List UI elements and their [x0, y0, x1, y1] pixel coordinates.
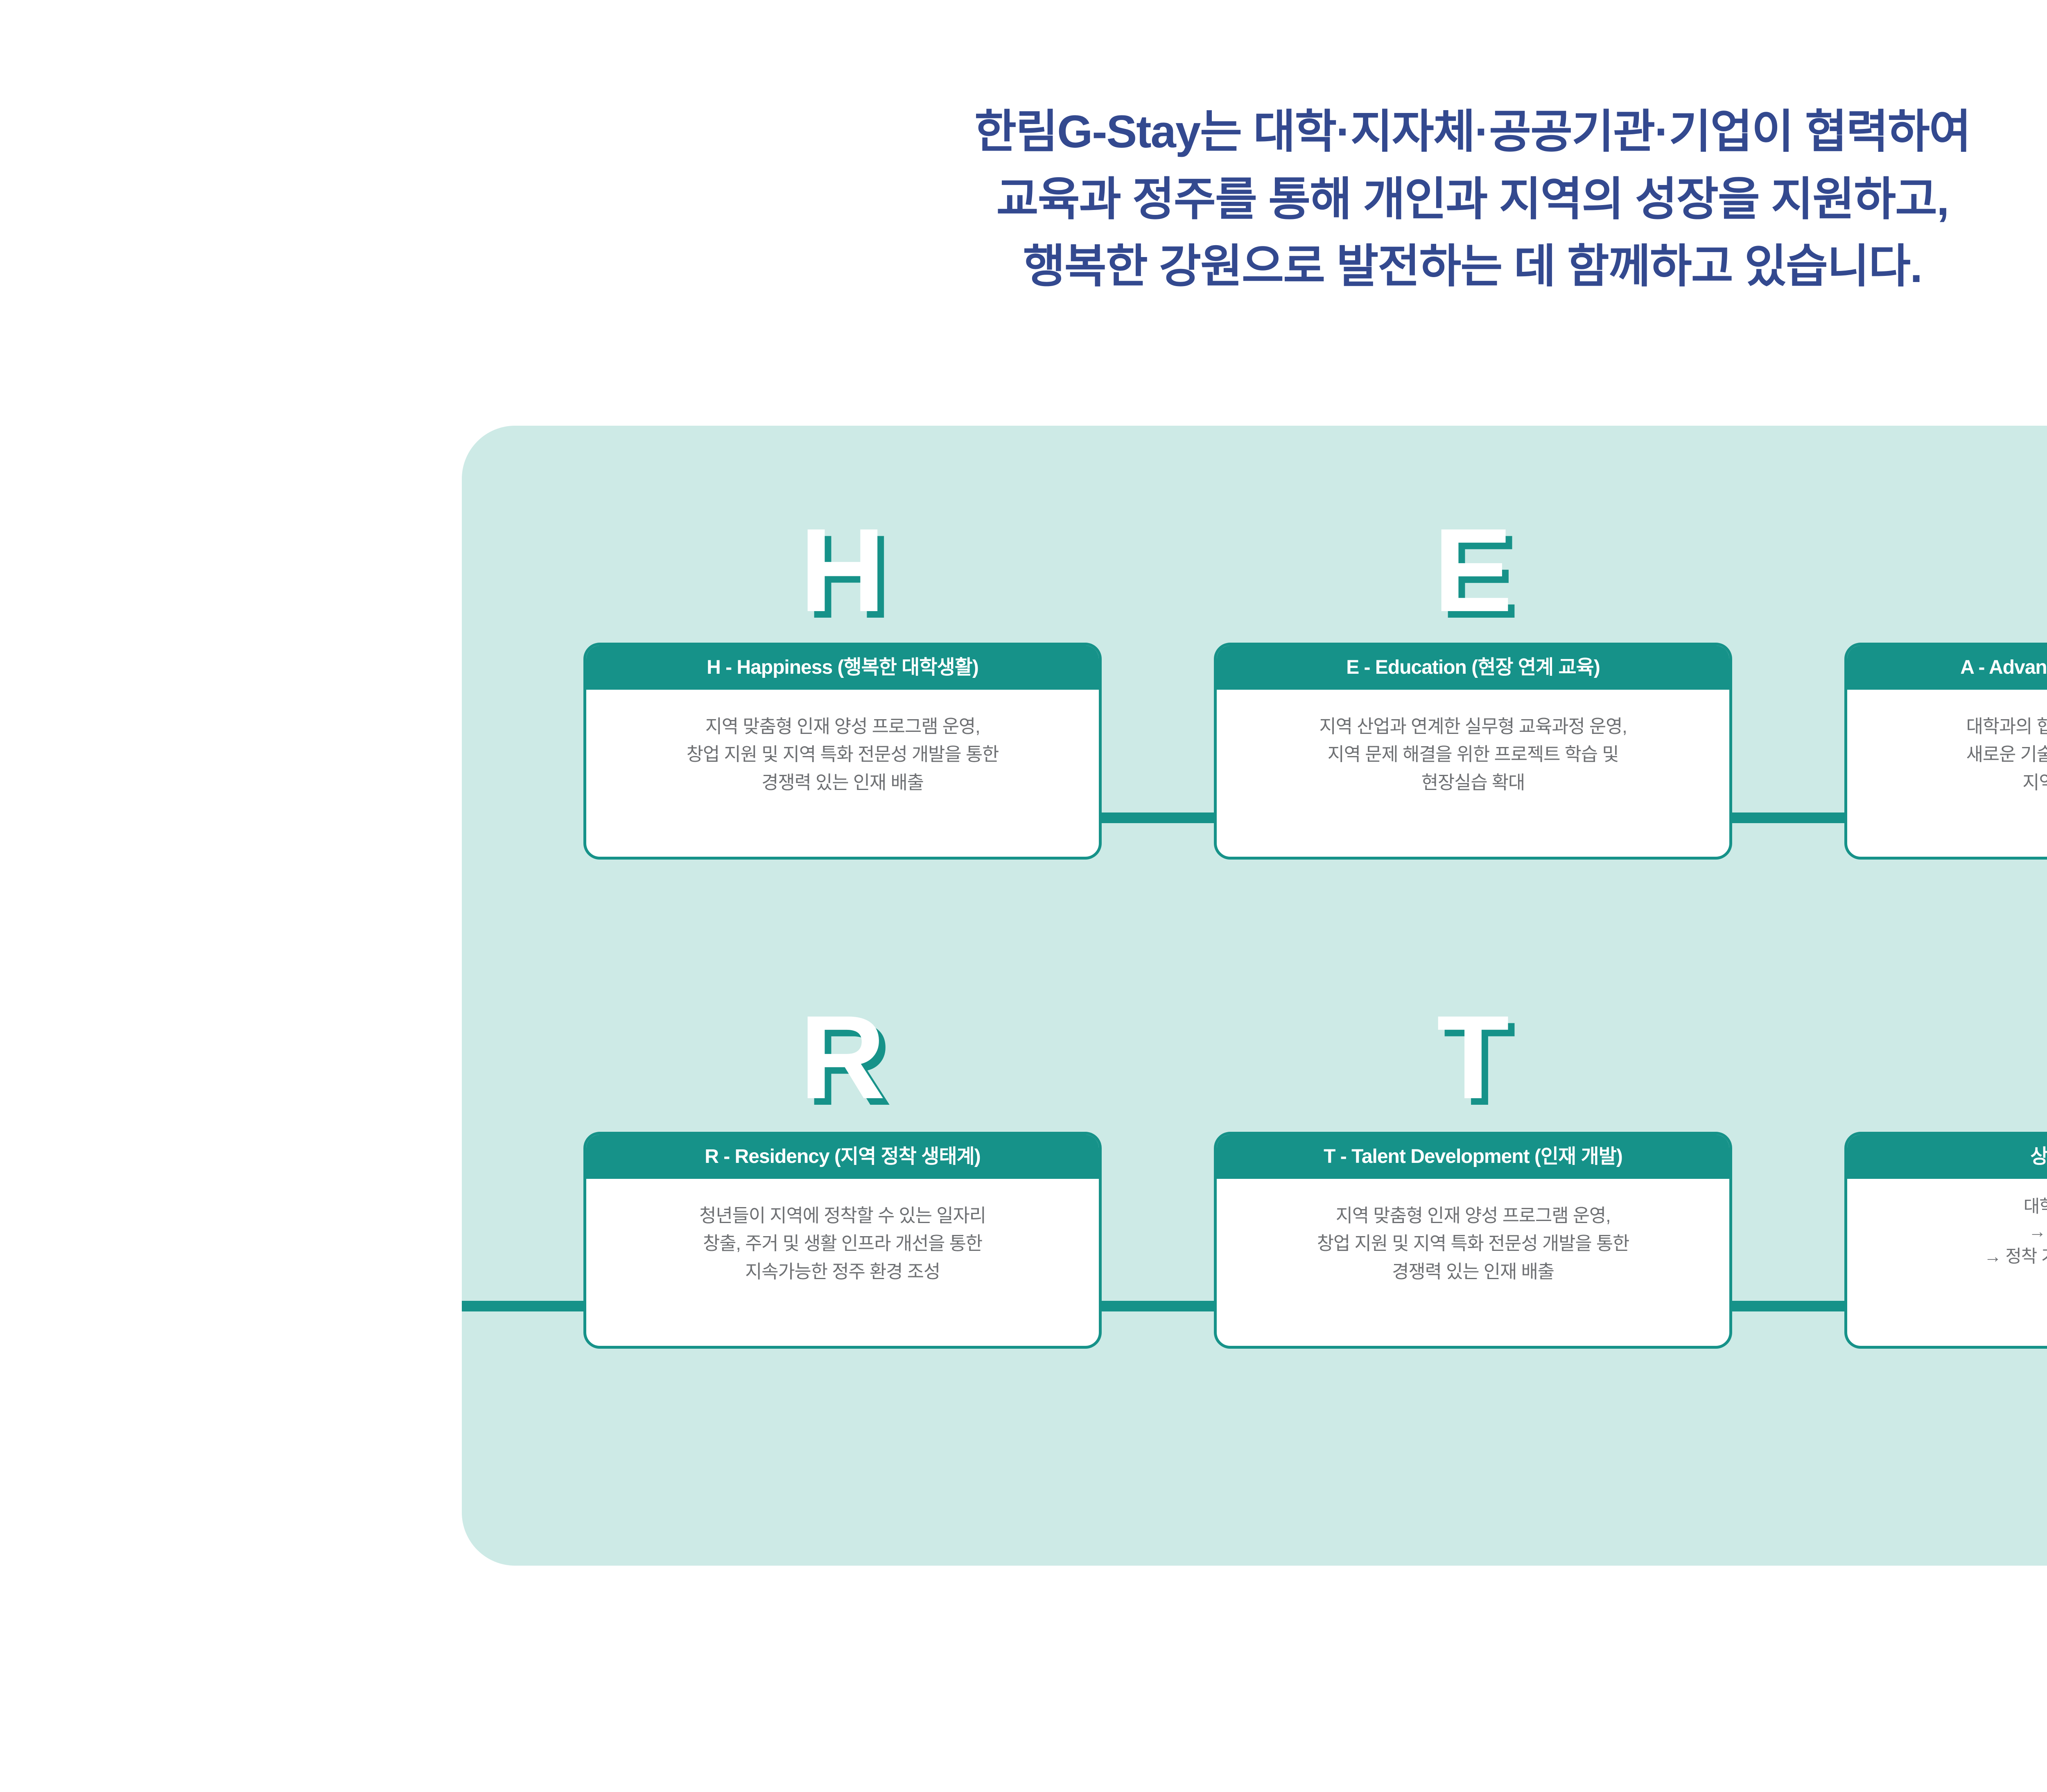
card-happiness-box: H - Happiness (행복한 대학생활) 지역 맞춤형 인재 양성 프로…	[583, 643, 1102, 860]
card-talent-development-box: T - Talent Development (인재 개발) 지역 맞춤형 인재…	[1214, 1132, 1732, 1349]
body-line: 지역 산업과 연계한 실무형 교육과정 운영,	[1231, 713, 1715, 740]
card-talent-development-title: T - Talent Development (인재 개발)	[1217, 1135, 1729, 1179]
card-virtuous-cycle-title: 상생발전 순환구조	[1847, 1135, 2047, 1179]
body-line: 지역 맞춤형 인재 양성 프로그램 운영,	[600, 713, 1085, 740]
body-line: 청년들이 지역에 정착할 수 있는 일자리	[600, 1202, 1085, 1230]
card-talent-development-body: 지역 맞춤형 인재 양성 프로그램 운영, 창업 지원 및 지역 특화 전문성 …	[1217, 1179, 1729, 1305]
connector-e-to-a	[1719, 812, 1855, 823]
body-line: → 정착 기반 확대 → 대학 발전 →	[1861, 1244, 2047, 1269]
connector-inward-to-r	[462, 1301, 597, 1311]
card-education-title: E - Education (현장 연계 교육)	[1217, 645, 1729, 690]
card-virtuous-cycle-body: 대학의 교육 · 인재양성 → 지역의 혁신 · 발전 → 정착 기반 확대 →…	[1847, 1179, 2047, 1313]
connector-h-to-e	[1089, 812, 1224, 823]
card-advancement-body: 대학과의 협력을 통한 지역 산업 혁신, 새로운 기술 도입 및 사업 모델 …	[1847, 690, 2047, 815]
recycle-icon	[1844, 1002, 2047, 1125]
body-line: 현장실습 확대	[1231, 769, 1715, 797]
card-residency-box: R - Residency (지역 정착 생태계) 청년들이 지역에 정착할 수…	[583, 1132, 1102, 1349]
body-line: 경쟁력 있는 인재 배출	[600, 769, 1085, 797]
card-happiness-body: 지역 맞춤형 인재 양성 프로그램 운영, 창업 지원 및 지역 특화 전문성 …	[586, 690, 1099, 815]
headline-line-2: 교육과 정주를 통해 개인과 지역의 성장을 지원하고,	[0, 166, 2047, 233]
card-advancement-title: A - Advancement (지역 혁신 성장)	[1847, 645, 2047, 690]
body-line: 대학과의 협력을 통한 지역 산업 혁신,	[1861, 713, 2047, 740]
connector-t-to-cycle	[1719, 1301, 1855, 1311]
card-advancement-box: A - Advancement (지역 혁신 성장) 대학과의 협력을 통한 지…	[1844, 643, 2047, 860]
heart-framework-panel	[462, 426, 2047, 1566]
body-line: 대학의 교육 · 인재양성	[1861, 1194, 2047, 1219]
card-education-box: E - Education (현장 연계 교육) 지역 산업과 연계한 실무형 …	[1214, 643, 1732, 860]
body-line: 창업 지원 및 지역 특화 전문성 개발을 통한	[600, 740, 1085, 768]
body-line: 지역 문제 해결을 위한 프로젝트 학습 및	[1231, 740, 1715, 768]
body-line: 창출, 주거 및 생활 인프라 개선을 통한	[600, 1230, 1085, 1257]
body-line: 창업 지원 및 지역 특화 전문성 개발을 통한	[1231, 1230, 1715, 1257]
card-education-body: 지역 산업과 연계한 실무형 교육과정 운영, 지역 문제 해결을 위한 프로젝…	[1217, 690, 1729, 815]
headline-line-3: 행복한 강원으로 발전하는 데 함께하고 있습니다.	[0, 233, 2047, 300]
body-line: 지속적 상생발전	[1861, 1269, 2047, 1294]
card-happiness-title: H - Happiness (행복한 대학생활)	[586, 645, 1099, 690]
headline-line-1: 한림G-Stay는 대학·지자체·공공기관·기업이 협력하여	[0, 98, 2047, 166]
body-line: 지속가능한 정주 환경 조성	[600, 1258, 1085, 1286]
body-line: 지역 맞춤형 인재 양성 프로그램 운영,	[1231, 1202, 1715, 1230]
card-virtuous-cycle-box: 상생발전 순환구조 대학의 교육 · 인재양성 → 지역의 혁신 · 발전 → …	[1844, 1132, 2047, 1349]
connector-r-to-t	[1089, 1301, 1224, 1311]
body-line: 지역 경제 활성화 도모	[1861, 769, 2047, 797]
body-line: → 지역의 혁신 · 발전	[1861, 1219, 2047, 1244]
card-residency-title: R - Residency (지역 정착 생태계)	[586, 1135, 1099, 1179]
body-line: 경쟁력 있는 인재 배출	[1231, 1258, 1715, 1286]
body-line: 새로운 기술 도입 및 사업 모델 개발로	[1861, 740, 2047, 768]
card-residency-body: 청년들이 지역에 정착할 수 있는 일자리 창출, 주거 및 생활 인프라 개선…	[586, 1179, 1099, 1305]
page-title: 한림G-Stay는 대학·지자체·공공기관·기업이 협력하여 교육과 정주를 통…	[0, 98, 2047, 300]
